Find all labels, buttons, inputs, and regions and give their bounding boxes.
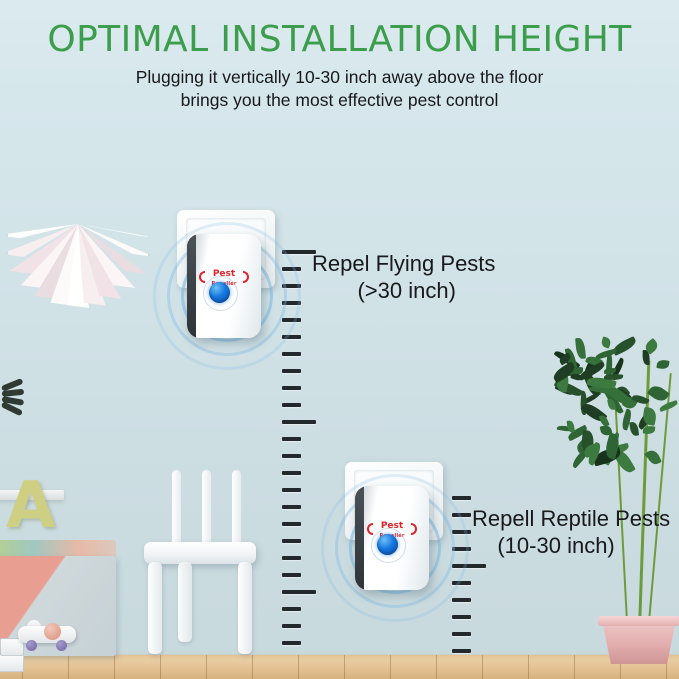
chair-slat xyxy=(202,470,211,546)
callout-reptile-pests: Repell Reptile Pests (10-30 inch) xyxy=(472,505,670,559)
plant-pot-rim xyxy=(598,616,679,626)
small-plant-decor xyxy=(0,382,46,408)
floor-plank-seam xyxy=(436,655,437,679)
power-led-button[interactable] xyxy=(209,282,230,303)
plant-foliage xyxy=(556,346,679,476)
ruler-tick-minor xyxy=(282,488,301,492)
ruler-tick-minor xyxy=(282,522,301,526)
toy-block xyxy=(0,654,24,672)
ruler-tick-minor xyxy=(282,471,301,475)
ruler-tick-minor xyxy=(282,641,301,645)
ruler-tick-minor xyxy=(282,505,301,509)
ruler-tick-minor xyxy=(282,403,301,407)
chair-slat xyxy=(232,470,241,546)
ruler-tick-minor xyxy=(282,624,301,628)
ruler-tick-minor xyxy=(282,607,301,611)
chair-seat xyxy=(144,542,256,564)
power-led-button[interactable] xyxy=(377,534,398,555)
subtitle-line-2: brings you the most effective pest contr… xyxy=(0,89,679,112)
ruler-tick-minor xyxy=(282,539,301,543)
plant-leaf xyxy=(647,383,670,405)
callout-flying-pests: Repel Flying Pests (>30 inch) xyxy=(312,250,495,304)
ruler-tick-minor xyxy=(282,386,301,390)
callout-reptile-line-2: (10-30 inch) xyxy=(472,532,670,559)
toy-car-window xyxy=(44,623,61,640)
chair-leg xyxy=(238,562,252,654)
floor-plank-seam xyxy=(344,655,345,679)
subtitle-line-1: Plugging it vertically 10-30 inch away a… xyxy=(0,66,679,89)
plant-pot xyxy=(602,620,676,664)
chair-leg xyxy=(148,562,162,654)
letter-a-decor: A xyxy=(6,474,56,538)
chair-slat xyxy=(172,470,181,546)
chair-leg xyxy=(178,562,192,642)
plant-leaf xyxy=(659,400,679,412)
ruler-tick-minor xyxy=(452,632,471,636)
plant-leaf xyxy=(656,359,670,369)
plant-leaf xyxy=(642,425,655,434)
ruler-tick-minor xyxy=(282,573,301,577)
toy-car-wheel xyxy=(26,640,37,651)
plant-leaf xyxy=(629,421,639,436)
floor-plank-seam xyxy=(68,655,69,679)
toy-car-wheel xyxy=(56,640,67,651)
ruler-tick-minor xyxy=(452,649,471,653)
ruler-tick-minor xyxy=(282,454,301,458)
header-block: OPTIMAL INSTALLATION HEIGHT Plugging it … xyxy=(0,0,679,112)
plant-leaf xyxy=(567,421,575,433)
pendant-lamp xyxy=(8,222,148,318)
product-infographic: OPTIMAL INSTALLATION HEIGHT Plugging it … xyxy=(0,0,679,679)
ruler-tick-minor xyxy=(282,437,301,441)
toy-car xyxy=(18,620,76,650)
ruler-tick-major xyxy=(282,590,316,594)
kids-chair xyxy=(144,470,256,660)
ruler-tick-major xyxy=(282,420,316,424)
callout-reptile-line-1: Repell Reptile Pests xyxy=(472,505,670,532)
chair-backrest xyxy=(172,470,242,546)
page-title: OPTIMAL INSTALLATION HEIGHT xyxy=(0,22,679,58)
callout-flying-line-1: Repel Flying Pests xyxy=(312,250,495,277)
callout-flying-line-2: (>30 inch) xyxy=(312,277,495,304)
floor-plank-seam xyxy=(390,655,391,679)
floor-plank-seam xyxy=(528,655,529,679)
floor-plank-seam xyxy=(114,655,115,679)
ruler-tick-minor xyxy=(282,556,301,560)
